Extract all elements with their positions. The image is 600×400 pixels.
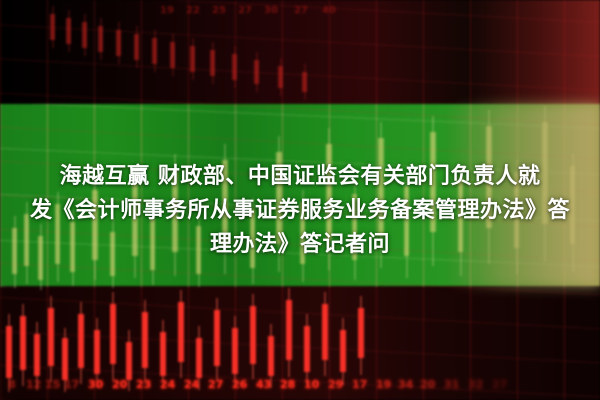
axis-tick-label: 15 — [45, 379, 60, 390]
candlestick-body — [340, 330, 346, 372]
axis-tick-label: 24 — [184, 379, 199, 390]
axis-tick-label: 27 — [492, 379, 507, 390]
candlestick-body — [34, 334, 40, 376]
axis-tick-label: 27 — [238, 6, 252, 16]
candlestick-body — [278, 66, 283, 88]
chart-bottom-axis-labels: 8121517302023242427264328102917193420313… — [0, 374, 600, 394]
axis-tick-label: 25 — [212, 6, 226, 16]
axis-tick-label: 20 — [112, 379, 127, 390]
headline-line-1: 海越互赢 财政部、中国证监会有关部门负责人就 — [0, 160, 600, 194]
candlestick-body — [250, 306, 256, 364]
axis-tick-label: 20 — [420, 379, 435, 390]
candlestick-body — [254, 60, 259, 84]
axis-tick-label: 12 — [26, 379, 41, 390]
axis-tick-label: 28 — [280, 379, 295, 390]
candlestick-body — [20, 316, 26, 370]
candlestick-body — [116, 30, 121, 56]
candlestick-body — [214, 310, 220, 366]
axis-tick-label: 30 — [264, 6, 278, 16]
candlestick-body — [134, 34, 139, 60]
candlestick-body — [142, 312, 148, 368]
axis-tick-label: 27 — [208, 379, 223, 390]
axis-tick-label: 43 — [256, 379, 271, 390]
candlestick-body — [232, 328, 238, 374]
axis-tick-label: 17 — [64, 379, 79, 390]
candlestick-body — [152, 38, 157, 64]
candlestick-body — [110, 304, 116, 364]
candlestick-body — [286, 300, 292, 360]
axis-tick-label: 10 — [304, 379, 319, 390]
headline-line-2: 发《会计师事务所从事证券服务业务备案管理办法》答 — [0, 194, 600, 228]
chart-top-axis-labels: 19222527302740 — [0, 6, 600, 24]
candlestick-body — [268, 336, 274, 376]
news-banner-image: 19222527302740 8121517302023242427264328… — [0, 0, 600, 400]
candlestick-body — [160, 332, 166, 376]
candlestick-body — [98, 26, 103, 52]
axis-tick-label: 31 — [444, 379, 459, 390]
candlestick-body — [210, 50, 215, 76]
candlestick-body — [94, 330, 100, 374]
candlestick-body — [302, 72, 307, 92]
candlestick-body — [322, 304, 328, 360]
axis-tick-label: 19 — [160, 6, 174, 16]
axis-tick-label: 40 — [322, 6, 336, 16]
axis-tick-label: 30 — [88, 379, 103, 390]
axis-tick-label: 27 — [294, 6, 308, 16]
candlestick-body — [170, 42, 175, 68]
axis-tick-label: 19 — [376, 379, 391, 390]
axis-tick-label: 22 — [186, 6, 200, 16]
axis-tick-label: 29 — [328, 379, 343, 390]
axis-tick-label: 8 — [8, 379, 16, 390]
candlestick-body — [82, 22, 87, 48]
axis-tick-label: 34 — [398, 379, 413, 390]
axis-tick-label: 23 — [136, 379, 151, 390]
candlestick-body — [178, 302, 184, 362]
axis-tick-label: 17 — [352, 379, 367, 390]
candlestick-body — [6, 326, 12, 378]
candlestick-body — [190, 46, 195, 72]
axis-tick-label: 26 — [232, 379, 247, 390]
candlestick-body — [48, 308, 54, 366]
axis-tick-label: 32 — [468, 379, 483, 390]
candlestick-body — [304, 326, 310, 372]
candlestick-body — [358, 308, 364, 358]
axis-tick-label: 24 — [160, 379, 175, 390]
candlestick-body — [196, 338, 202, 378]
headline-text: 海越互赢 财政部、中国证监会有关部门负责人就 发《会计师事务所从事证券服务业务备… — [0, 160, 600, 262]
candlestick-body — [78, 314, 84, 368]
candlestick-body — [232, 54, 237, 80]
headline-line-3: 理办法》答记者问 — [0, 228, 600, 262]
